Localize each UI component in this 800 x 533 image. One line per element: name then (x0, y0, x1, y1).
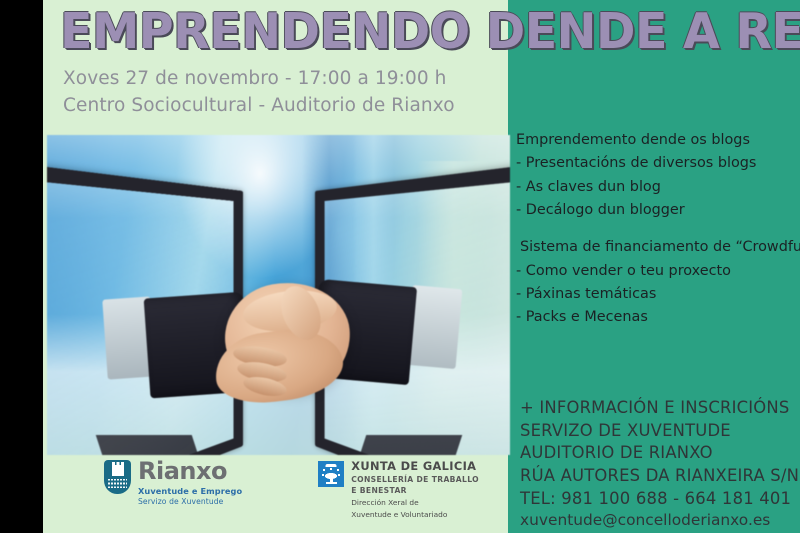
rianxo-logo: Rianxo Xuventude e Emprego Servizo de Xu… (104, 460, 242, 506)
topic-block1-heading: Emprendemento dende os blogs (516, 129, 800, 152)
contact-service: SERVIZO DE XUVENTUDE (520, 420, 800, 443)
contact-email[interactable]: xuventude@concelloderianxo.es (520, 510, 800, 531)
handshake-through-screens-photo (47, 135, 510, 455)
topic-item: - Presentacións de diversos blogs (516, 152, 800, 175)
programme-topics: Emprendemento dende os blogs - Presentac… (516, 129, 800, 330)
xunta-consellería-2: E BENESTAR (351, 486, 479, 496)
xunta-wordmark: XUNTA DE GALICIA (351, 460, 479, 473)
contact-venue: AUDITORIO DE RIANXO (520, 442, 800, 465)
topic-item: - As claves dun blog (516, 176, 800, 199)
xunta-chalice-icon (318, 461, 344, 487)
topic-item: - Como vender o teu proxecto (516, 260, 800, 283)
rianxo-wordmark: Rianxo (138, 460, 242, 483)
xunta-consellería-1: CONSELLERÍA DE TRABALLO (351, 475, 479, 485)
xunta-logo: XUNTA DE GALICIA CONSELLERÍA DE TRABALLO… (318, 460, 479, 520)
chalice-icon (325, 473, 337, 484)
xunta-logo-text: XUNTA DE GALICIA CONSELLERÍA DE TRABALLO… (351, 460, 479, 520)
rianxo-shield-icon (104, 460, 131, 494)
contact-heading: + INFORMACIÓN E INSCRICIÓNS (520, 397, 800, 420)
topic-item: - Decálogo dun blogger (516, 199, 800, 222)
tower-icon (112, 465, 124, 476)
contact-address: RÚA AUTORES DA RIANXEIRA S/N (520, 465, 800, 488)
topic-item: - Packs e Mecenas (516, 306, 800, 329)
contact-info: + INFORMACIÓN E INSCRICIÓNS SERVIZO DE X… (520, 397, 800, 531)
event-details: Xoves 27 de novembro - 17:00 a 19:00 h C… (63, 66, 503, 120)
xunta-direccion-1: Dirección Xeral de (351, 498, 479, 508)
topics-spacer (516, 222, 800, 236)
crown-icon (326, 464, 337, 467)
rianxo-tagline-1: Xuventude e Emprego (138, 486, 242, 496)
contact-phone: TEL: 981 100 688 - 664 181 401 (520, 488, 800, 511)
event-date-time: Xoves 27 de novembro - 17:00 a 19:00 h (63, 66, 503, 93)
rianxo-logo-text: Rianxo Xuventude e Emprego Servizo de Xu… (138, 460, 242, 506)
page-title: EMPRENDENDO DENDE A REDE (60, 6, 778, 57)
xunta-direccion-2: Xuventude e Voluntariado (351, 510, 479, 520)
poster-canvas: EMPRENDENDO DENDE A REDE Xoves 27 de nov… (0, 0, 800, 533)
topic-item: - Páxinas temáticas (516, 283, 800, 306)
waves-icon (108, 479, 127, 490)
event-venue: Centro Sociocultural - Auditorio de Rian… (63, 93, 503, 120)
topic-block2-heading: Sistema de financiamento de “Crowdfundin… (516, 236, 800, 259)
rianxo-tagline-2: Servizo de Xuventude (138, 497, 242, 506)
logo-strip: Rianxo Xuventude e Emprego Servizo de Xu… (104, 460, 479, 520)
